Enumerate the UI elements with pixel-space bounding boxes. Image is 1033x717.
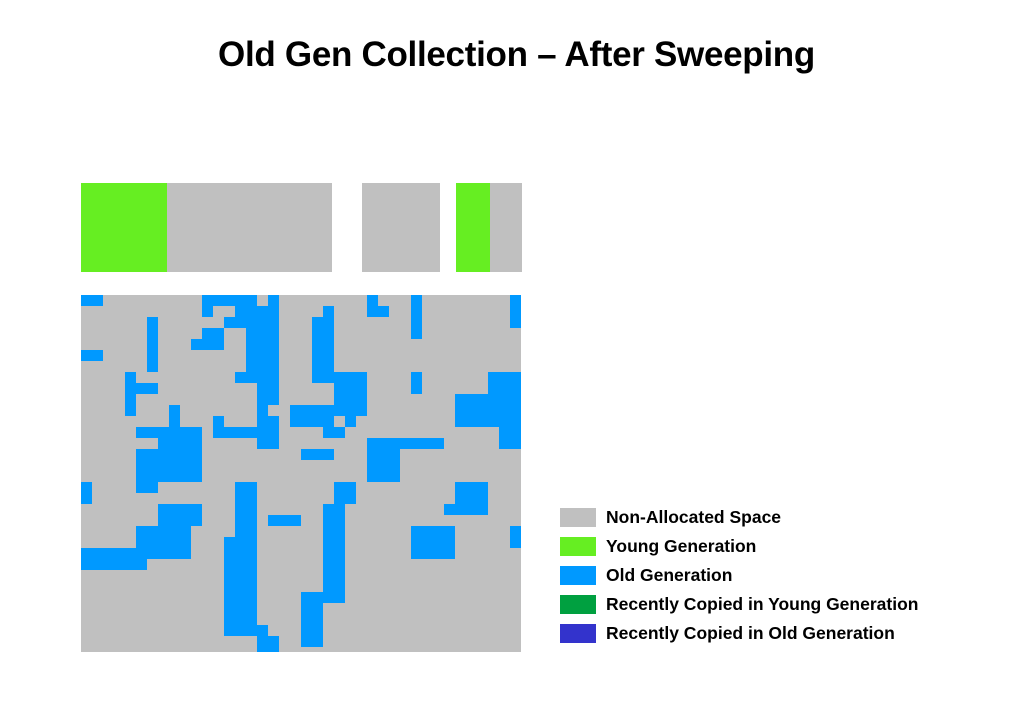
old-generation-cell: [499, 383, 510, 394]
old-generation-cell: [136, 383, 147, 394]
old-generation-cell: [411, 537, 422, 548]
old-generation-cell: [488, 416, 499, 427]
old-generation-cell: [455, 482, 466, 493]
old-generation-cell: [246, 493, 257, 504]
old-generation-cell: [103, 548, 114, 559]
old-generation-cell: [301, 603, 312, 614]
old-generation-cell: [235, 559, 246, 570]
old-generation-cell: [323, 405, 334, 416]
old-generation-cell: [136, 548, 147, 559]
old-generation-cell: [147, 383, 158, 394]
old-generation-cell: [180, 449, 191, 460]
old-generation-cell: [334, 405, 345, 416]
old-generation-cell: [235, 427, 246, 438]
old-generation-cell: [257, 405, 268, 416]
old-generation-cell: [191, 504, 202, 515]
old-generation-cell: [422, 537, 433, 548]
old-generation-cell: [180, 548, 191, 559]
old-generation-cell: [312, 592, 323, 603]
old-generation-cell: [477, 482, 488, 493]
old-generation-cell: [224, 427, 235, 438]
old-generation-cell: [147, 328, 158, 339]
page-title: Old Gen Collection – After Sweeping: [0, 33, 1033, 77]
old-generation-cell: [411, 295, 422, 306]
old-generation-cell: [92, 295, 103, 306]
old-generation-cell: [378, 438, 389, 449]
old-generation-cell: [268, 383, 279, 394]
legend-swatch-icon: [560, 624, 596, 643]
old-generation-cell: [268, 372, 279, 383]
old-generation-cell: [367, 449, 378, 460]
old-generation-cell: [191, 427, 202, 438]
old-generation-cell: [246, 295, 257, 306]
eden-space-segment-non-allocated: [167, 183, 332, 272]
old-generation-cell: [378, 306, 389, 317]
old-generation-cell: [257, 416, 268, 427]
old-generation-cell: [136, 427, 147, 438]
old-generation-cell: [191, 515, 202, 526]
old-generation-cell: [510, 438, 521, 449]
old-generation-cell: [466, 394, 477, 405]
old-generation-cell: [323, 306, 334, 317]
old-generation-cell: [158, 460, 169, 471]
old-generation-cell: [191, 471, 202, 482]
old-generation-cell: [81, 548, 92, 559]
legend-item: Non-Allocated Space: [560, 503, 980, 532]
old-generation-cell: [455, 504, 466, 515]
old-generation-cell: [411, 548, 422, 559]
old-generation-cell: [158, 427, 169, 438]
old-generation-cell: [224, 614, 235, 625]
old-generation-cell: [92, 548, 103, 559]
survivor-space-1: [362, 183, 440, 272]
legend-item-label: Recently Copied in Young Generation: [606, 595, 918, 614]
legend-item-label: Young Generation: [606, 537, 756, 556]
old-generation-cell: [455, 416, 466, 427]
old-generation-cell: [235, 515, 246, 526]
old-generation-cell: [433, 537, 444, 548]
old-generation-cell: [114, 559, 125, 570]
old-generation-cell: [499, 372, 510, 383]
old-generation-cell: [81, 295, 92, 306]
old-generation-cell: [389, 460, 400, 471]
old-generation-cell: [301, 405, 312, 416]
young-generation-spaces: [81, 183, 522, 272]
old-generation-cell: [334, 482, 345, 493]
slide-canvas: Old Gen Collection – After Sweeping Non-…: [0, 0, 1033, 717]
old-generation-cell: [499, 427, 510, 438]
legend-swatch-icon: [560, 508, 596, 527]
old-generation-cell: [312, 339, 323, 350]
old-generation-cell: [279, 515, 290, 526]
old-generation-cell: [202, 295, 213, 306]
old-generation-cell: [510, 306, 521, 317]
survivor-space-1-segment-non-allocated: [362, 183, 440, 272]
old-generation-cell: [213, 416, 224, 427]
old-generation-cell: [312, 614, 323, 625]
old-generation-cell: [147, 537, 158, 548]
old-generation-cell: [136, 559, 147, 570]
old-generation-cell: [136, 460, 147, 471]
old-generation-cell: [224, 592, 235, 603]
old-generation-cell: [389, 471, 400, 482]
chart-legend: Non-Allocated SpaceYoung GenerationOld G…: [560, 503, 980, 648]
old-generation-cell: [422, 526, 433, 537]
old-generation-cell: [290, 515, 301, 526]
old-generation-cell: [257, 383, 268, 394]
old-generation-cell: [191, 438, 202, 449]
old-generation-cell: [323, 570, 334, 581]
old-generation-cell: [246, 317, 257, 328]
old-generation-cell: [257, 306, 268, 317]
old-generation-cell: [268, 306, 279, 317]
old-generation-cell: [224, 317, 235, 328]
old-generation-cell: [367, 295, 378, 306]
old-generation-cell: [257, 427, 268, 438]
old-generation-cell: [169, 515, 180, 526]
old-generation-cell: [389, 449, 400, 460]
old-generation-cell: [323, 515, 334, 526]
old-generation-cell: [510, 526, 521, 537]
old-generation-cell: [224, 625, 235, 636]
old-generation-cell: [444, 526, 455, 537]
old-generation-cell: [125, 548, 136, 559]
old-generation-cell: [323, 592, 334, 603]
legend-swatch-icon: [560, 566, 596, 585]
old-generation-cell: [268, 328, 279, 339]
old-generation-cell: [180, 526, 191, 537]
old-generation-cell: [246, 361, 257, 372]
old-generation-cell: [147, 460, 158, 471]
old-generation-cell: [323, 537, 334, 548]
old-generation-cell: [312, 405, 323, 416]
old-generation-cell: [301, 416, 312, 427]
old-generation-cell: [169, 449, 180, 460]
old-generation-cell: [235, 537, 246, 548]
old-generation-cell: [411, 526, 422, 537]
old-generation-cell: [81, 493, 92, 504]
old-generation-cell: [246, 306, 257, 317]
legend-item-label: Old Generation: [606, 566, 732, 585]
old-generation-cell: [378, 471, 389, 482]
old-generation-cell: [202, 306, 213, 317]
old-generation-cell: [356, 383, 367, 394]
old-generation-cell: [235, 493, 246, 504]
old-generation-cell: [422, 438, 433, 449]
old-generation-cell: [246, 372, 257, 383]
old-generation-cell: [147, 339, 158, 350]
old-generation-cell: [125, 372, 136, 383]
old-generation-cell: [246, 339, 257, 350]
legend-swatch-icon: [560, 537, 596, 556]
old-generation-cell: [477, 394, 488, 405]
old-generation-cell: [125, 394, 136, 405]
old-generation-cell: [235, 625, 246, 636]
old-generation-cell: [455, 493, 466, 504]
old-generation-cell: [466, 405, 477, 416]
old-generation-cell: [345, 372, 356, 383]
old-generation-cell: [312, 317, 323, 328]
old-generation-cell: [235, 372, 246, 383]
old-generation-cell: [257, 339, 268, 350]
old-generation-cell: [433, 526, 444, 537]
old-generation-cell: [213, 295, 224, 306]
legend-item: Old Generation: [560, 561, 980, 590]
old-generation-cell: [224, 581, 235, 592]
old-generation-cell: [510, 295, 521, 306]
old-generation-cell: [213, 427, 224, 438]
old-generation-cell: [323, 559, 334, 570]
old-generation-cell: [125, 405, 136, 416]
old-generation-cell: [246, 515, 257, 526]
old-generation-cell: [411, 317, 422, 328]
old-generation-cell: [488, 383, 499, 394]
old-generation-cell: [323, 504, 334, 515]
old-generation-cell: [466, 504, 477, 515]
old-generation-cell: [257, 438, 268, 449]
old-generation-cell: [334, 570, 345, 581]
old-generation-cell: [345, 383, 356, 394]
old-generation-cell: [246, 581, 257, 592]
old-generation-cell: [235, 504, 246, 515]
old-generation-cell: [191, 449, 202, 460]
old-generation-cell: [224, 295, 235, 306]
old-generation-cell: [246, 504, 257, 515]
old-generation-cell: [268, 647, 279, 652]
old-generation-cell: [235, 306, 246, 317]
old-generation-space: [81, 295, 521, 652]
old-generation-cell: [499, 394, 510, 405]
old-generation-cell: [378, 460, 389, 471]
old-generation-cell: [147, 427, 158, 438]
eden-space: [81, 183, 332, 272]
old-generation-cell: [301, 592, 312, 603]
old-generation-cell: [356, 372, 367, 383]
old-generation-cell: [510, 405, 521, 416]
old-generation-cell: [169, 427, 180, 438]
old-generation-cell: [268, 427, 279, 438]
old-generation-cell: [312, 361, 323, 372]
old-generation-cell: [323, 548, 334, 559]
old-generation-cell: [510, 416, 521, 427]
old-generation-cell: [224, 548, 235, 559]
old-generation-cell: [169, 471, 180, 482]
old-generation-cell: [257, 350, 268, 361]
old-generation-cell: [92, 559, 103, 570]
old-generation-cell: [136, 482, 147, 493]
old-generation-cell: [114, 548, 125, 559]
old-generation-cell: [158, 438, 169, 449]
old-generation-cell: [488, 405, 499, 416]
old-generation-cell: [268, 361, 279, 372]
old-generation-cell: [367, 438, 378, 449]
old-generation-cell: [147, 471, 158, 482]
old-generation-cell: [169, 460, 180, 471]
old-generation-cell: [158, 449, 169, 460]
old-generation-cell: [433, 548, 444, 559]
old-generation-cell: [444, 504, 455, 515]
old-generation-cell: [224, 537, 235, 548]
old-generation-cell: [180, 515, 191, 526]
old-generation-cell: [92, 350, 103, 361]
old-generation-cell: [169, 405, 180, 416]
old-generation-cell: [323, 427, 334, 438]
old-generation-cell: [169, 537, 180, 548]
old-generation-cell: [334, 383, 345, 394]
old-generation-cell: [257, 647, 268, 652]
old-generation-cell: [444, 548, 455, 559]
old-generation-cell: [334, 526, 345, 537]
old-generation-cell: [334, 581, 345, 592]
old-generation-cell: [312, 449, 323, 460]
old-generation-cell: [323, 526, 334, 537]
old-generation-cell: [290, 405, 301, 416]
old-generation-cell: [334, 394, 345, 405]
old-generation-cell: [136, 537, 147, 548]
old-generation-cell: [246, 526, 257, 537]
old-generation-cell: [433, 438, 444, 449]
old-generation-cell: [323, 317, 334, 328]
old-generation-cell: [257, 328, 268, 339]
old-generation-cell: [158, 471, 169, 482]
legend-item-label: Non-Allocated Space: [606, 508, 781, 527]
old-generation-cell: [257, 625, 268, 636]
old-generation-cell: [312, 328, 323, 339]
old-generation-cell: [312, 372, 323, 383]
old-generation-cell: [312, 350, 323, 361]
old-generation-cell: [180, 427, 191, 438]
old-generation-cell: [301, 614, 312, 625]
old-generation-cell: [246, 427, 257, 438]
old-generation-cell: [466, 482, 477, 493]
old-generation-cell: [323, 328, 334, 339]
old-generation-cell: [312, 603, 323, 614]
old-generation-cell: [169, 504, 180, 515]
old-generation-cell: [136, 471, 147, 482]
old-generation-cell: [334, 504, 345, 515]
old-generation-cell: [180, 504, 191, 515]
old-generation-cell: [510, 394, 521, 405]
old-generation-cell: [246, 614, 257, 625]
old-generation-cell: [400, 438, 411, 449]
old-generation-cell: [411, 383, 422, 394]
old-generation-cell: [246, 603, 257, 614]
old-generation-cell: [224, 559, 235, 570]
old-generation-cell: [235, 570, 246, 581]
old-generation-cell: [345, 482, 356, 493]
old-generation-cell: [136, 526, 147, 537]
old-generation-cell: [136, 449, 147, 460]
old-generation-cell: [180, 460, 191, 471]
old-generation-cell: [334, 559, 345, 570]
old-generation-cell: [158, 537, 169, 548]
old-generation-cell: [455, 405, 466, 416]
old-generation-cell: [411, 438, 422, 449]
old-generation-cell: [301, 636, 312, 647]
old-generation-cell: [499, 416, 510, 427]
old-generation-cell: [191, 339, 202, 350]
old-generation-cell: [323, 372, 334, 383]
old-generation-cell: [345, 405, 356, 416]
old-generation-cell: [510, 537, 521, 548]
old-generation-cell: [268, 438, 279, 449]
old-generation-cell: [246, 328, 257, 339]
old-generation-cell: [246, 482, 257, 493]
old-generation-cell: [180, 471, 191, 482]
old-generation-cell: [411, 372, 422, 383]
old-generation-cell: [334, 548, 345, 559]
old-generation-cell: [323, 350, 334, 361]
old-generation-cell: [246, 537, 257, 548]
old-generation-cell: [158, 504, 169, 515]
old-generation-cell: [334, 427, 345, 438]
old-generation-cell: [81, 482, 92, 493]
old-generation-cell: [301, 625, 312, 636]
old-generation-cell: [257, 394, 268, 405]
old-generation-cell: [345, 416, 356, 427]
old-generation-cell: [213, 339, 224, 350]
eden-space-segment-young-generation: [81, 183, 167, 272]
old-generation-cell: [169, 416, 180, 427]
old-generation-cell: [268, 317, 279, 328]
old-generation-cell: [235, 482, 246, 493]
old-generation-cell: [180, 537, 191, 548]
old-generation-cell: [202, 339, 213, 350]
survivor-space-2: [456, 183, 522, 272]
old-generation-cell: [169, 438, 180, 449]
old-generation-cell: [323, 416, 334, 427]
old-generation-cell: [158, 548, 169, 559]
old-generation-cell: [246, 570, 257, 581]
old-generation-cell: [268, 394, 279, 405]
old-generation-cell: [268, 350, 279, 361]
old-generation-cell: [334, 493, 345, 504]
old-generation-cell: [246, 548, 257, 559]
old-generation-cell: [158, 515, 169, 526]
old-generation-cell: [477, 416, 488, 427]
old-generation-cell: [499, 438, 510, 449]
old-generation-cell: [257, 317, 268, 328]
old-generation-cell: [224, 603, 235, 614]
old-generation-cell: [235, 592, 246, 603]
old-generation-cell: [301, 449, 312, 460]
old-generation-cell: [235, 295, 246, 306]
old-generation-cell: [125, 383, 136, 394]
old-generation-cell: [444, 537, 455, 548]
old-generation-cell: [367, 471, 378, 482]
old-generation-cell: [268, 515, 279, 526]
old-generation-cell: [455, 394, 466, 405]
old-generation-cell: [158, 526, 169, 537]
old-generation-cell: [334, 372, 345, 383]
survivor-space-2-segment-young-generation: [456, 183, 490, 272]
old-generation-cell: [268, 636, 279, 647]
old-generation-cell: [257, 636, 268, 647]
old-generation-cell: [477, 493, 488, 504]
old-generation-cell: [510, 427, 521, 438]
old-generation-cell: [257, 372, 268, 383]
old-generation-cell: [81, 350, 92, 361]
old-generation-cell: [268, 339, 279, 350]
old-generation-cell: [334, 592, 345, 603]
old-generation-cell: [510, 317, 521, 328]
old-generation-cell: [323, 339, 334, 350]
old-generation-cell: [235, 548, 246, 559]
old-generation-cell: [246, 559, 257, 570]
old-generation-cell: [477, 504, 488, 515]
old-generation-cell: [345, 394, 356, 405]
old-generation-cell: [147, 361, 158, 372]
